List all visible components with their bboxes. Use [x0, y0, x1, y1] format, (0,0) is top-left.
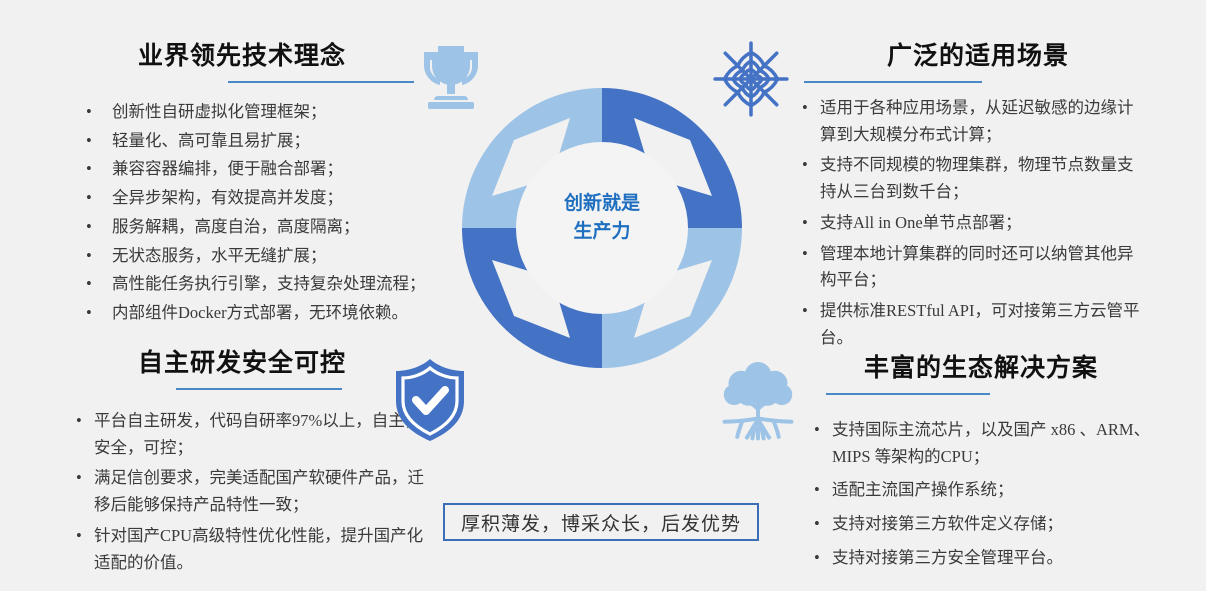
section-ecosystem-solutions: 丰富的生态解决方案 •支持国际主流芯片，以及国产 x86 、ARM、MIPS 等…	[800, 348, 1152, 579]
bullet-glyph: •	[76, 465, 82, 492]
bullet-glyph: •	[86, 128, 92, 155]
list-item: •满足信创要求，完美适配国产软硬件产品，迁移后能够保持产品特性一致；	[74, 465, 430, 518]
section-list-secure: •平台自主研发，代码自研率97%以上，自主，安全，可控； •满足信创要求，完美适…	[74, 408, 430, 576]
list-item-text: 平台自主研发，代码自研率97%以上，自主，安全，可控；	[94, 408, 430, 461]
ring-inner-hole	[516, 142, 688, 314]
section-list-tech: •创新性自研虚拟化管理框架； •轻量化、高可靠且易扩展； •兼容容器编排，便于融…	[72, 99, 430, 327]
shield-check-icon	[392, 357, 468, 448]
list-item-text: 支持对接第三方安全管理平台。	[832, 545, 1152, 572]
section-title-scene: 广泛的适用场景	[800, 36, 1146, 72]
list-item-text: 支持不同规模的物理集群，物理节点数量支持从三台到数千台；	[820, 152, 1146, 205]
list-item-text: 提供标准RESTful API，可对接第三方云管平台。	[820, 298, 1146, 351]
list-item-text: 无状态服务，水平无缝扩展；	[112, 243, 430, 270]
list-item-text: 满足信创要求，完美适配国产软硬件产品，迁移后能够保持产品特性一致；	[94, 465, 430, 518]
bullet-glyph: •	[86, 185, 92, 212]
list-item: •轻量化、高可靠且易扩展；	[72, 128, 430, 155]
list-item: •高性能任务执行引擎，支持复杂处理流程；	[72, 271, 430, 298]
list-item: •提供标准RESTful API，可对接第三方云管平台。	[800, 298, 1146, 351]
section-rule-tech	[228, 81, 414, 83]
slogan-box: 厚积薄发，博采众长，后发优势	[443, 503, 759, 541]
tree-icon	[718, 358, 798, 449]
section-title-eco: 丰富的生态解决方案	[800, 348, 1152, 384]
list-item-text: 服务解耦，高度自治，高度隔离；	[112, 214, 430, 241]
list-item: •创新性自研虚拟化管理框架；	[72, 99, 430, 126]
list-item-text: 全异步架构，有效提高并发度；	[112, 185, 430, 212]
list-item: •全异步架构，有效提高并发度；	[72, 185, 430, 212]
list-item-text: 高性能任务执行引擎，支持复杂处理流程；	[112, 271, 430, 298]
bullet-glyph: •	[814, 417, 820, 444]
list-item-text: 支持对接第三方软件定义存储；	[832, 511, 1152, 538]
section-applicable-scenarios: 广泛的适用场景 •适用于各种应用场景，从延迟敏感的边缘计算到大规模分布式计算； …	[800, 36, 1146, 355]
bullet-glyph: •	[76, 408, 82, 435]
shield-body	[396, 359, 464, 441]
list-item-text: 支持All in One单节点部署；	[820, 210, 1146, 237]
list-item-text: 创新性自研虚拟化管理框架；	[112, 99, 430, 126]
bullet-glyph: •	[86, 271, 92, 298]
bullet-glyph: •	[802, 298, 808, 325]
section-title-secure: 自主研发安全可控	[60, 343, 430, 379]
bullet-glyph: •	[86, 300, 92, 327]
list-item: •支持对接第三方软件定义存储；	[812, 511, 1152, 538]
slogan-text: 厚积薄发，博采众长，后发优势	[461, 509, 741, 536]
list-item: •内部组件Docker方式部署，无环境依赖。	[72, 300, 430, 327]
bullet-glyph: •	[86, 99, 92, 126]
list-item-text: 管理本地计算集群的同时还可以纳管其他异构平台；	[820, 241, 1146, 294]
section-rule-eco	[826, 393, 990, 395]
section-title-tech: 业界领先技术理念	[60, 36, 430, 72]
bullet-glyph: •	[802, 241, 808, 268]
section-rule-scene	[804, 81, 982, 83]
section-list-eco: •支持国际主流芯片，以及国产 x86 、ARM、MIPS 等架构的CPU； •适…	[812, 417, 1152, 572]
bullet-glyph: •	[802, 152, 808, 179]
trophy-icon	[418, 42, 484, 119]
bullet-glyph: •	[802, 210, 808, 237]
bullet-glyph: •	[802, 95, 808, 122]
list-item: •无状态服务，水平无缝扩展；	[72, 243, 430, 270]
list-item: •支持国际主流芯片，以及国产 x86 、ARM、MIPS 等架构的CPU；	[812, 417, 1152, 470]
list-item: •兼容容器编排，便于融合部署；	[72, 156, 430, 183]
bullet-glyph: •	[86, 214, 92, 241]
bullet-glyph: •	[814, 477, 820, 504]
list-item: •支持不同规模的物理集群，物理节点数量支持从三台到数千台；	[800, 152, 1146, 205]
bullet-glyph: •	[814, 545, 820, 572]
list-item: •针对国产CPU高级特性优化性能，提升国产化适配的价值。	[74, 523, 430, 576]
list-item: •支持All in One单节点部署；	[800, 210, 1146, 237]
section-list-scene: •适用于各种应用场景，从延迟敏感的边缘计算到大规模分布式计算； •支持不同规模的…	[800, 95, 1146, 351]
bullet-glyph: •	[86, 156, 92, 183]
bullet-glyph: •	[86, 243, 92, 270]
list-item-text: 支持国际主流芯片，以及国产 x86 、ARM、MIPS 等架构的CPU；	[832, 417, 1152, 470]
bullet-glyph: •	[814, 511, 820, 538]
section-tech-philosophy: 业界领先技术理念 •创新性自研虚拟化管理框架； •轻量化、高可靠且易扩展； •兼…	[60, 36, 430, 329]
list-item: •管理本地计算集群的同时还可以纳管其他异构平台；	[800, 241, 1146, 294]
list-item: •服务解耦，高度自治，高度隔离；	[72, 214, 430, 241]
list-item-text: 轻量化、高可靠且易扩展；	[112, 128, 430, 155]
bullet-glyph: •	[76, 523, 82, 550]
list-item-text: 适用于各种应用场景，从延迟敏感的边缘计算到大规模分布式计算；	[820, 95, 1146, 148]
list-item-text: 针对国产CPU高级特性优化性能，提升国产化适配的价值。	[94, 523, 430, 576]
list-item: •适配主流国产操作系统；	[812, 477, 1152, 504]
list-item-text: 兼容容器编排，便于融合部署；	[112, 156, 430, 183]
spider-web-icon	[712, 40, 790, 123]
section-independent-rnd-security: 自主研发安全可控 •平台自主研发，代码自研率97%以上，自主，安全，可控； •满…	[60, 343, 430, 580]
list-item: •平台自主研发，代码自研率97%以上，自主，安全，可控；	[74, 408, 430, 461]
list-item-text: 适配主流国产操作系统；	[832, 477, 1152, 504]
section-rule-secure	[176, 388, 342, 390]
cycle-ring-diagram: 创新就是 生产力	[452, 78, 752, 378]
list-item-text: 内部组件Docker方式部署，无环境依赖。	[112, 300, 430, 327]
list-item: •支持对接第三方安全管理平台。	[812, 545, 1152, 572]
list-item: •适用于各种应用场景，从延迟敏感的边缘计算到大规模分布式计算；	[800, 95, 1146, 148]
slide-canvas: 业界领先技术理念 •创新性自研虚拟化管理框架； •轻量化、高可靠且易扩展； •兼…	[0, 0, 1206, 591]
